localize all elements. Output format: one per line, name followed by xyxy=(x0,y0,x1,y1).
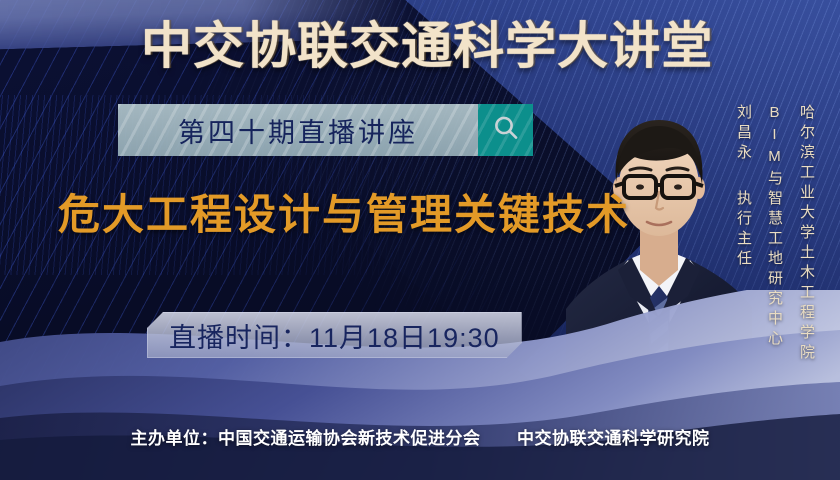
search-icon xyxy=(491,113,521,148)
livestream-time-text: 直播时间：11月18日19:30 xyxy=(169,316,500,355)
search-input[interactable]: 第四十期直播讲座 xyxy=(118,104,478,156)
search-bar[interactable]: 第四十期直播讲座 xyxy=(118,104,533,156)
footer-organizer-secondary: 中交协联交通科学研究院 xyxy=(517,429,710,448)
speaker-name: 刘昌永 xyxy=(733,104,754,164)
search-button[interactable] xyxy=(478,104,533,156)
lecture-title: 危大工程设计与管理关键技术 xyxy=(58,188,630,242)
speaker-role: 执行主任 xyxy=(733,190,754,270)
footer-organizer-primary: 主办单位：中国交通运输协会新技术促进分会 xyxy=(131,429,481,448)
page-title: 中交协联交通科学大讲堂 xyxy=(141,16,713,76)
speaker-org-line-1: 哈尔滨工业大学土木工程学院 xyxy=(796,104,817,364)
search-input-value: 第四十期直播讲座 xyxy=(178,111,418,150)
speaker-org-line-2: BIM与智慧工地研究中心 xyxy=(764,104,785,350)
livestream-poster: 中交协联交通科学大讲堂 第四十期直播讲座 危大工程设计与管理关键技术 直播时间：… xyxy=(0,0,840,480)
livestream-time-badge: 直播时间：11月18日19:30 xyxy=(147,312,522,358)
footer-organizers: 主办单位：中国交通运输协会新技术促进分会 中交协联交通科学研究院 xyxy=(0,424,840,449)
